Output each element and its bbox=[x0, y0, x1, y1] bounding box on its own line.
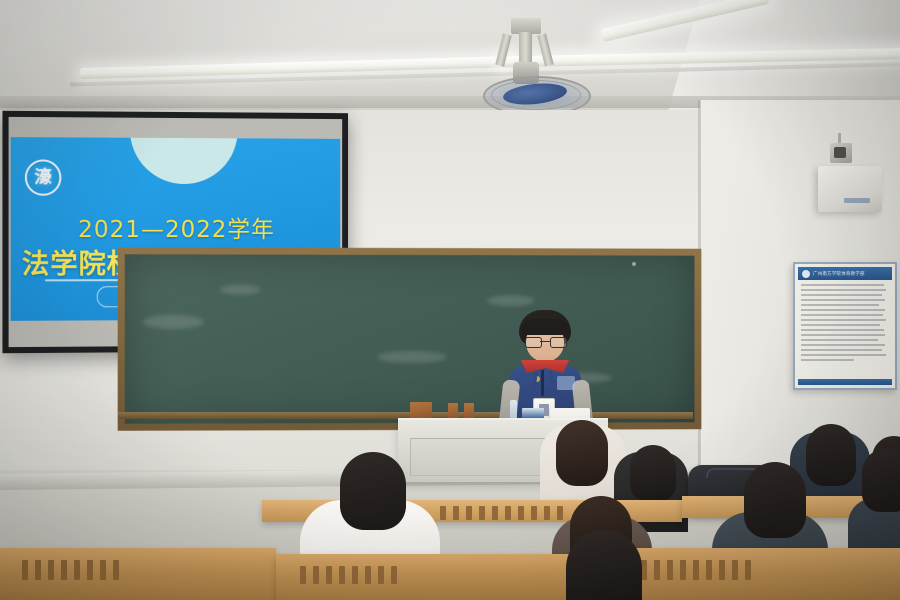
student-head bbox=[566, 530, 642, 600]
chalk-smudge bbox=[377, 351, 447, 363]
chalk-smudge bbox=[220, 285, 260, 295]
sensor-lens bbox=[834, 147, 846, 158]
desk-back-slats bbox=[300, 566, 397, 584]
wall-notice-board: 广州南方学院体育教学部 bbox=[793, 262, 897, 390]
school-emblem bbox=[802, 270, 810, 278]
university-seal-logo: 濠 bbox=[25, 159, 62, 195]
desk-back-slats bbox=[628, 560, 751, 580]
wall-speaker bbox=[818, 166, 882, 212]
water-bottle bbox=[510, 400, 517, 420]
chalk-holder bbox=[448, 403, 458, 418]
speaker-label bbox=[844, 198, 870, 203]
notice-title: 广州南方学院体育教学部 bbox=[813, 271, 865, 277]
classroom-photo: 濠 2021—2022学年 法学院权益委员系统会议 法学院学生会权益服务部 广州… bbox=[0, 0, 900, 600]
fan-cage-ring bbox=[491, 80, 581, 110]
desk-back-slats bbox=[440, 506, 563, 520]
student-head bbox=[806, 424, 856, 486]
fan-arm bbox=[537, 33, 553, 66]
notice-footer bbox=[798, 379, 892, 385]
eyeglasses bbox=[525, 337, 565, 346]
chalk-smudge bbox=[143, 315, 204, 329]
notice-header: 广州南方学院体育教学部 bbox=[798, 267, 892, 280]
student-head bbox=[744, 462, 806, 538]
student-head bbox=[556, 420, 608, 486]
presenter-fringe bbox=[522, 319, 568, 335]
podium-items bbox=[402, 398, 602, 420]
slide-title-line1: 2021—2022学年 bbox=[11, 210, 341, 244]
slide-arc-decoration bbox=[130, 137, 238, 184]
jacket-emblem bbox=[557, 376, 575, 390]
student-head bbox=[862, 448, 900, 512]
presenter-placket bbox=[541, 370, 544, 396]
student-head bbox=[630, 445, 676, 501]
notice-text-block bbox=[801, 284, 889, 376]
fan-arm bbox=[495, 33, 511, 66]
chalk-holder bbox=[464, 403, 474, 418]
chalk-holder bbox=[410, 402, 432, 418]
ceiling-fan bbox=[475, 18, 595, 113]
ceiling-sensor bbox=[830, 143, 852, 163]
board-mark bbox=[632, 262, 636, 266]
student-head bbox=[340, 452, 406, 530]
desk-back-slats bbox=[22, 560, 119, 580]
chalk-smudge bbox=[487, 295, 535, 306]
